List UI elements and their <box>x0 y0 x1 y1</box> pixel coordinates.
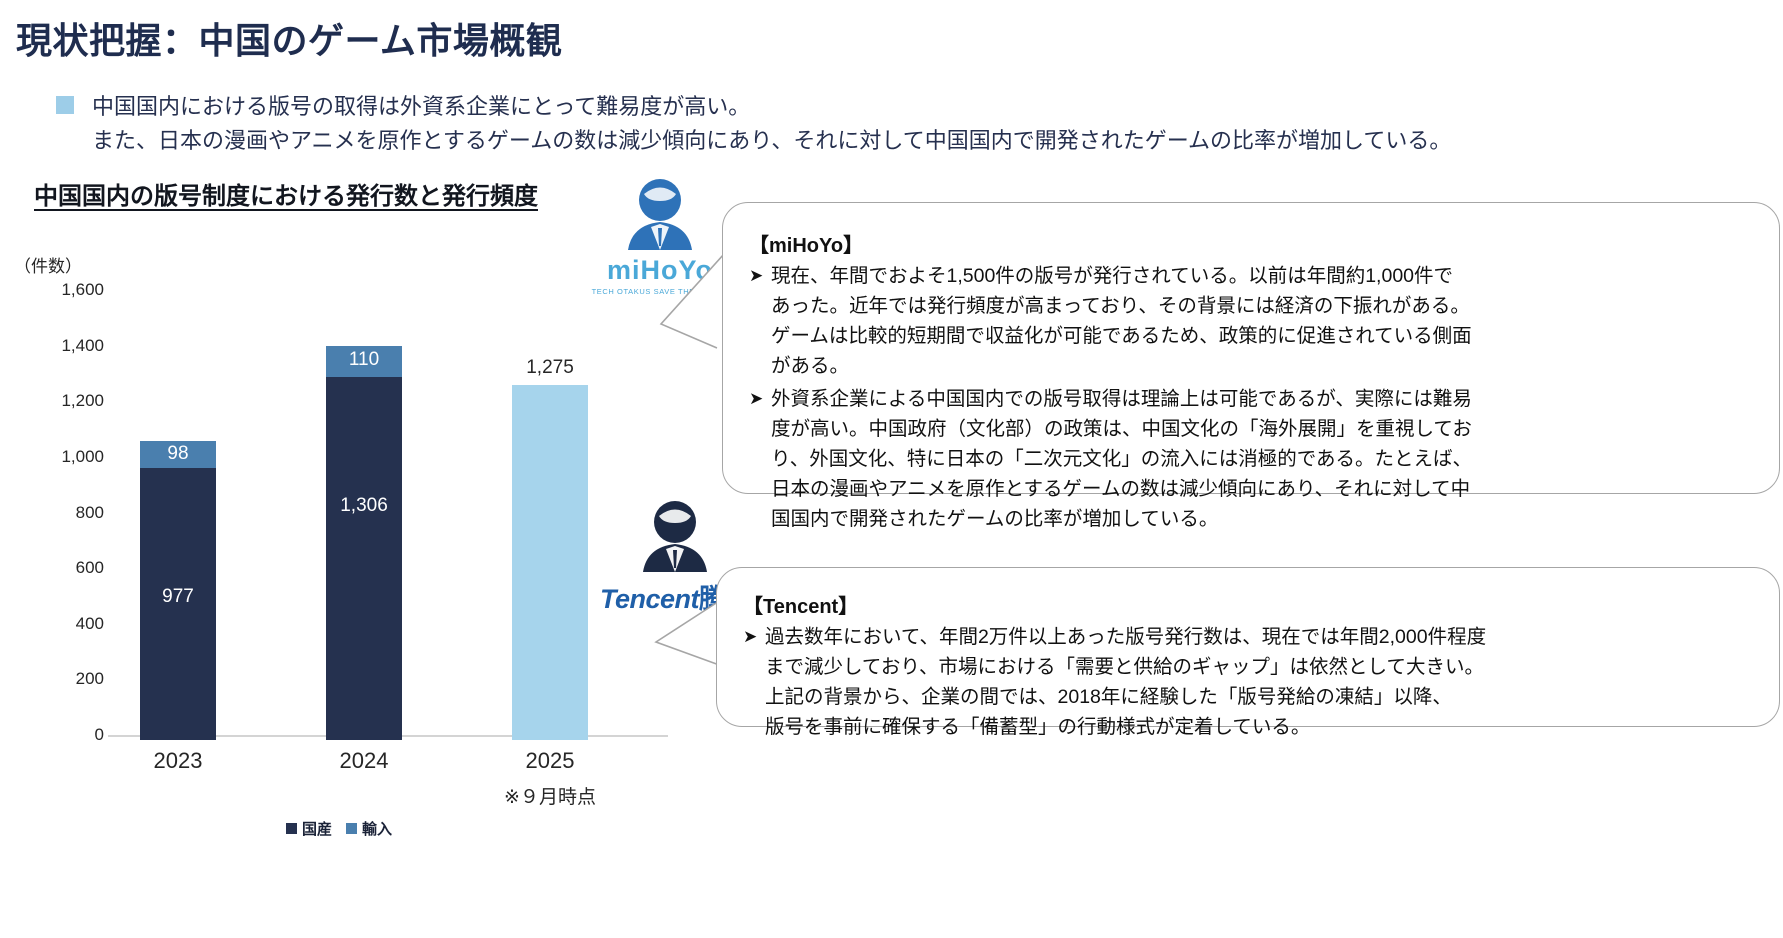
legend-label: 国産 <box>302 818 332 839</box>
bar-segment-domestic: 977 <box>140 468 216 740</box>
y-axis-tick: 600 <box>24 558 104 578</box>
legend-swatch-icon <box>346 823 357 834</box>
bar-segment-label: 977 <box>140 586 216 608</box>
y-axis-tick: 1,200 <box>24 391 104 411</box>
lead-bullet-block: 中国国内における版号の取得は外資系企業にとって難易度が高い。 また、日本の漫画や… <box>56 90 1451 158</box>
arrow-bullet-icon: ➤ <box>743 622 765 652</box>
chart-legend: 国産 輸入 <box>286 818 392 839</box>
callout-bullet: ➤ 現在、年間でおよそ1,500件の版号が発行されている。以前は年間約1,000… <box>749 261 1753 381</box>
bullet-marker-icon <box>56 96 74 114</box>
bar-chart: 1,600 1,400 1,200 1,000 800 600 400 200 … <box>30 290 670 740</box>
x-axis-label-2025: 2025 <box>460 748 640 774</box>
bullet-line: 上記の背景から、企業の間では、2018年に経験した「版号発給の凍結」以降、 <box>765 682 1486 712</box>
bar-segment-label: 1,306 <box>326 495 402 517</box>
bar-segment-import: 110 <box>326 346 402 377</box>
arrow-bullet-icon: ➤ <box>749 384 771 414</box>
legend-swatch-icon <box>286 823 297 834</box>
bar-segment-domestic: 1,306 <box>326 377 402 740</box>
bullet-line: がある。 <box>771 351 1472 381</box>
y-axis-tick: 0 <box>24 725 104 745</box>
bar-outside-label: 1,275 <box>512 357 588 379</box>
y-axis-tick: 1,400 <box>24 336 104 356</box>
bar-segment-label: 110 <box>326 349 402 371</box>
lead-line-2: また、日本の漫画やアニメを原作とするゲームの数は減少傾向にあり、それに対して中国… <box>92 124 1451 158</box>
callout-tencent: 【Tencent】 ➤ 過去数年において、年間2万件以上あった版号発行数は、現在… <box>716 567 1780 727</box>
chart-heading: 中国国内の版号制度における発行数と発行頻度 <box>34 176 538 211</box>
bullet-line: まで減少しており、市場における「需要と供給のギャップ」は依然として大きい。 <box>765 652 1486 682</box>
bullet-line: 過去数年において、年間2万件以上あった版号発行数は、現在では年間2,000件程度 <box>765 622 1486 652</box>
legend-label: 輸入 <box>362 818 392 839</box>
y-axis-tick: 1,000 <box>24 447 104 467</box>
y-axis-tick: 200 <box>24 669 104 689</box>
arrow-bullet-icon: ➤ <box>749 261 771 291</box>
lead-line-1: 中国国内における版号の取得は外資系企業にとって難易度が高い。 <box>92 90 1451 124</box>
x-axis-label-2024: 2024 <box>274 748 454 774</box>
legend-item-import: 輸入 <box>346 818 392 839</box>
callout-bullet: ➤ 外資系企業による中国国内での版号取得は理論上は可能であるが、実際には難易 度… <box>749 384 1753 534</box>
bullet-line: 度が高い。中国政府（文化部）の政策は、中国文化の「海外展開」を重視してお <box>771 414 1472 444</box>
bar-group-2023: 977 98 <box>140 441 216 740</box>
x-axis-label-2023: 2023 <box>88 748 268 774</box>
bar-segment-import: 98 <box>140 441 216 468</box>
bar-segment-label: 98 <box>140 443 216 465</box>
legend-item-domestic: 国産 <box>286 818 332 839</box>
callout-bullet-text: 過去数年において、年間2万件以上あった版号発行数は、現在では年間2,000件程度… <box>765 622 1486 742</box>
y-axis-tick: 1,600 <box>24 280 104 300</box>
page-title: 現状把握：中国のゲーム市場概観 <box>16 12 562 64</box>
callout-bullet-text: 外資系企業による中国国内での版号取得は理論上は可能であるが、実際には難易 度が高… <box>771 384 1472 534</box>
lead-bullet-text: 中国国内における版号の取得は外資系企業にとって難易度が高い。 また、日本の漫画や… <box>92 90 1451 158</box>
bullet-line: あった。近年では発行頻度が高まっており、その背景には経済の下振れがある。 <box>771 291 1472 321</box>
bullet-line: 日本の漫画やアニメを原作とするゲームの数は減少傾向にあり、それに対して中 <box>771 474 1472 504</box>
callout-title: 【miHoYo】 <box>749 229 1753 258</box>
y-axis-tick: 800 <box>24 503 104 523</box>
bullet-line: り、外国文化、特に日本の「二次元文化」の流入には消極的である。たとえば、 <box>771 444 1472 474</box>
callout-bullet: ➤ 過去数年において、年間2万件以上あった版号発行数は、現在では年間2,000件… <box>743 622 1753 742</box>
bullet-line: 外資系企業による中国国内での版号取得は理論上は可能であるが、実際には難易 <box>771 384 1472 414</box>
y-axis-tick: 400 <box>24 614 104 634</box>
y-axis-unit-label: （件数） <box>14 252 82 277</box>
bar-group-2025: 1,275 <box>512 385 588 740</box>
bullet-line: 版号を事前に確保する「備蓄型」の行動様式が定着している。 <box>765 712 1486 742</box>
bullet-line: 現在、年間でおよそ1,500件の版号が発行されている。以前は年間約1,000件で <box>771 261 1472 291</box>
callout-mihoyo: 【miHoYo】 ➤ 現在、年間でおよそ1,500件の版号が発行されている。以前… <box>722 202 1780 494</box>
bar-segment-total <box>512 385 588 740</box>
callout-bullet-text: 現在、年間でおよそ1,500件の版号が発行されている。以前は年間約1,000件で… <box>771 261 1472 381</box>
x-axis-note-2025: ※９月時点 <box>460 782 640 809</box>
bullet-line: 国国内で開発されたゲームの比率が増加している。 <box>771 504 1472 534</box>
person-avatar-icon <box>629 500 721 572</box>
callout-title: 【Tencent】 <box>743 590 1753 619</box>
bullet-line: ゲームは比較的短期間で収益化が可能であるため、政策的に促進されている側面 <box>771 321 1472 351</box>
bar-group-2024: 1,306 110 <box>326 346 402 740</box>
